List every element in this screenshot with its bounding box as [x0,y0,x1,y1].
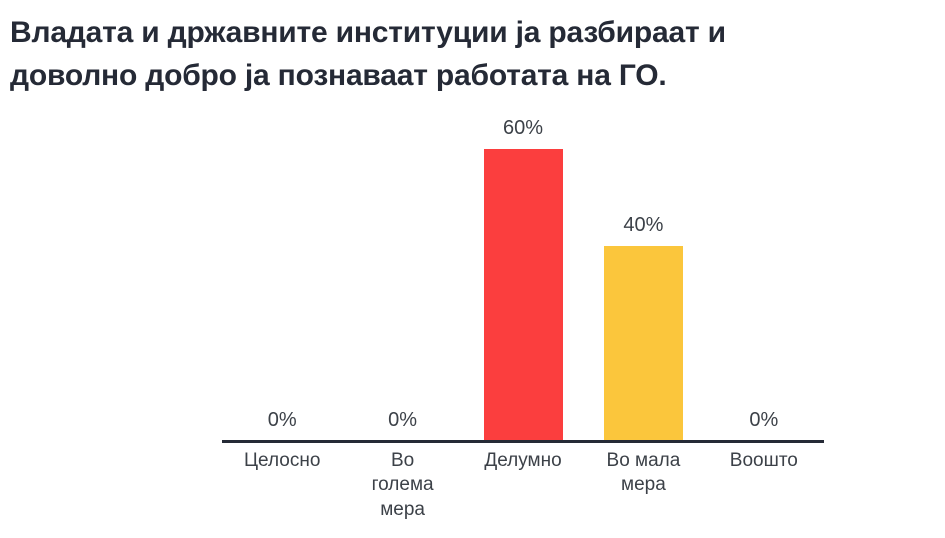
bar-value-label: 0% [388,410,417,430]
category-label-vo-mala-mera: Во мала мера [583,449,703,498]
category-label-delumno: Делумно [463,449,583,473]
plot-area: 0% 0% 60% 40% 0% [222,110,824,443]
bar-column-delumno: 60% [463,110,583,441]
bar-column-vo-mala-mera: 40% [583,110,703,441]
bar-chart: Владата и државните институции ја разбир… [0,0,945,538]
bar-columns: 0% 0% 60% 40% 0% [222,110,824,441]
x-axis-category-labels: Целосно Во голема мера Делумно Во мала м… [222,449,824,522]
bar-value-label: 40% [623,215,663,235]
category-label-celosno: Целосно [222,449,342,473]
bar-column-vooshto: 0% [704,110,824,441]
bar-value-label: 60% [503,118,543,138]
chart-title: Владата и државните институции ја разбир… [10,12,930,97]
bar-column-celosno: 0% [222,110,342,441]
bar-column-vo-golema-mera: 0% [342,110,462,441]
bar-delumno[interactable] [484,149,563,441]
bar-vo-mala-mera[interactable] [604,246,683,441]
x-axis-line [222,440,824,443]
bar-value-label: 0% [749,410,778,430]
category-label-vooshto: Воошто [704,449,824,473]
category-label-vo-golema-mera: Во голема мера [342,449,462,522]
bar-value-label: 0% [268,410,297,430]
